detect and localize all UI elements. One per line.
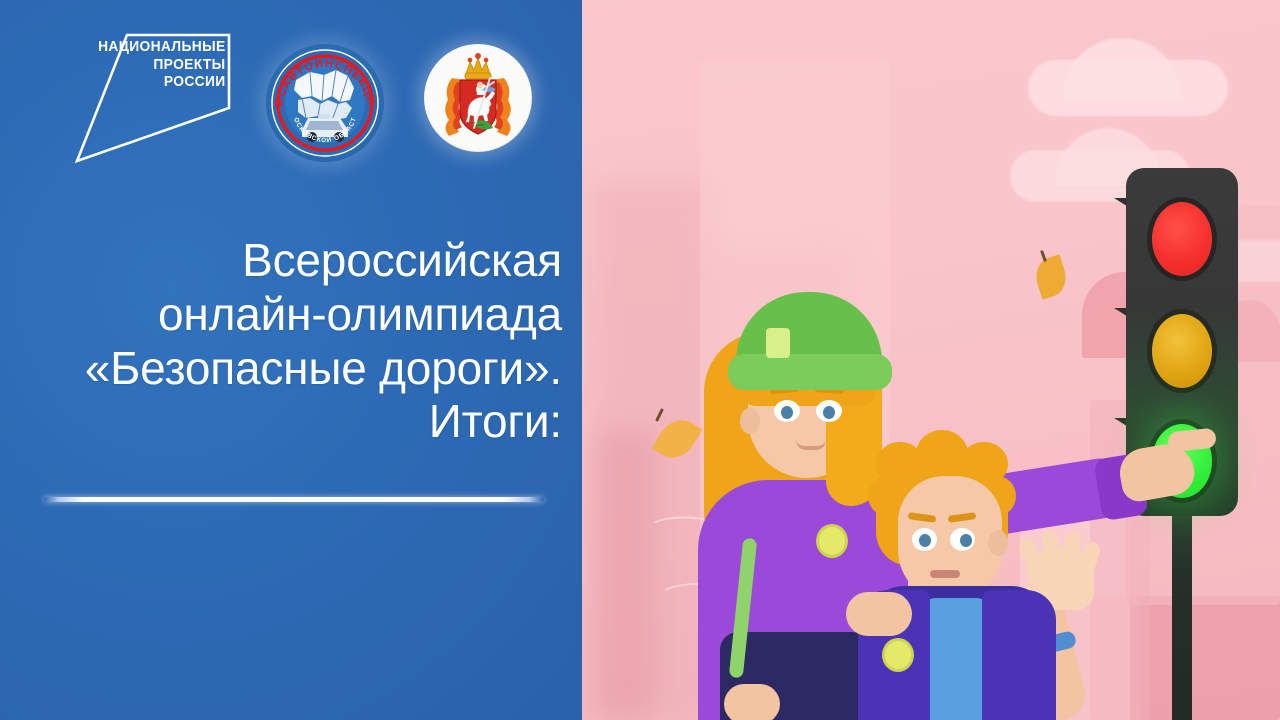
- boy-finger: [1077, 541, 1101, 580]
- boy-reflector-badge: [882, 638, 914, 672]
- boy-pupil-left: [919, 534, 931, 547]
- traffic-light-pole: [1172, 498, 1192, 720]
- woman-beanie-tag: [766, 328, 790, 358]
- boy-mouth: [930, 570, 960, 578]
- gosavtoinspekciya-emblem: ГОСАВТОИНСПЕКЦИЯ МОСКОВСКОЙ ОБЛАСТИ: [266, 44, 384, 162]
- boy-pupil-right: [960, 534, 972, 547]
- woman-ear: [740, 408, 760, 434]
- headline-line-1: Всероссийская: [40, 234, 562, 288]
- traffic-light-red-lamp: [1152, 202, 1212, 276]
- woman-beanie-brim: [728, 354, 892, 390]
- autumn-leaf: [1040, 250, 1047, 262]
- cloud: [1062, 38, 1182, 100]
- np-line-1: НАЦИОНАЛЬНЫЕ: [99, 38, 226, 56]
- national-projects-logo: НАЦИОНАЛЬНЫЕ ПРОЕКТЫ РОССИИ: [72, 30, 232, 166]
- traffic-light-amber-lamp: [1152, 314, 1212, 388]
- woman-pupil-left: [781, 406, 793, 419]
- slide-root: НАЦИОНАЛЬНЫЕ ПРОЕКТЫ РОССИИ: [0, 0, 1280, 720]
- headline-line-3: «Безопасные дороги».: [40, 342, 562, 396]
- headline-line-4: Итоги:: [40, 395, 562, 449]
- boy-jacket-right: [982, 590, 1056, 720]
- blue-title-panel: НАЦИОНАЛЬНЫЕ ПРОЕКТЫ РОССИИ: [0, 0, 582, 720]
- moscow-oblast-coat-of-arms: [424, 44, 532, 152]
- characters-group: [620, 280, 1140, 720]
- np-line-2: ПРОЕКТЫ: [99, 56, 226, 74]
- woman-reflector-badge: [816, 524, 848, 558]
- boy-ear: [988, 530, 1008, 556]
- page-title: Всероссийская онлайн-олимпиада «Безопасн…: [40, 234, 562, 449]
- national-projects-logo-text: НАЦИОНАЛЬНЫЕ ПРОЕКТЫ РОССИИ: [87, 38, 226, 91]
- np-line-3: РОССИИ: [99, 73, 226, 91]
- woman-pupil-right: [823, 406, 835, 419]
- woman-hand-on-boy-shoulder: [846, 592, 912, 636]
- headline-line-2: онлайн-олимпиада: [40, 288, 562, 342]
- woman-hand-on-hip: [724, 684, 780, 720]
- headline-divider: [44, 497, 544, 502]
